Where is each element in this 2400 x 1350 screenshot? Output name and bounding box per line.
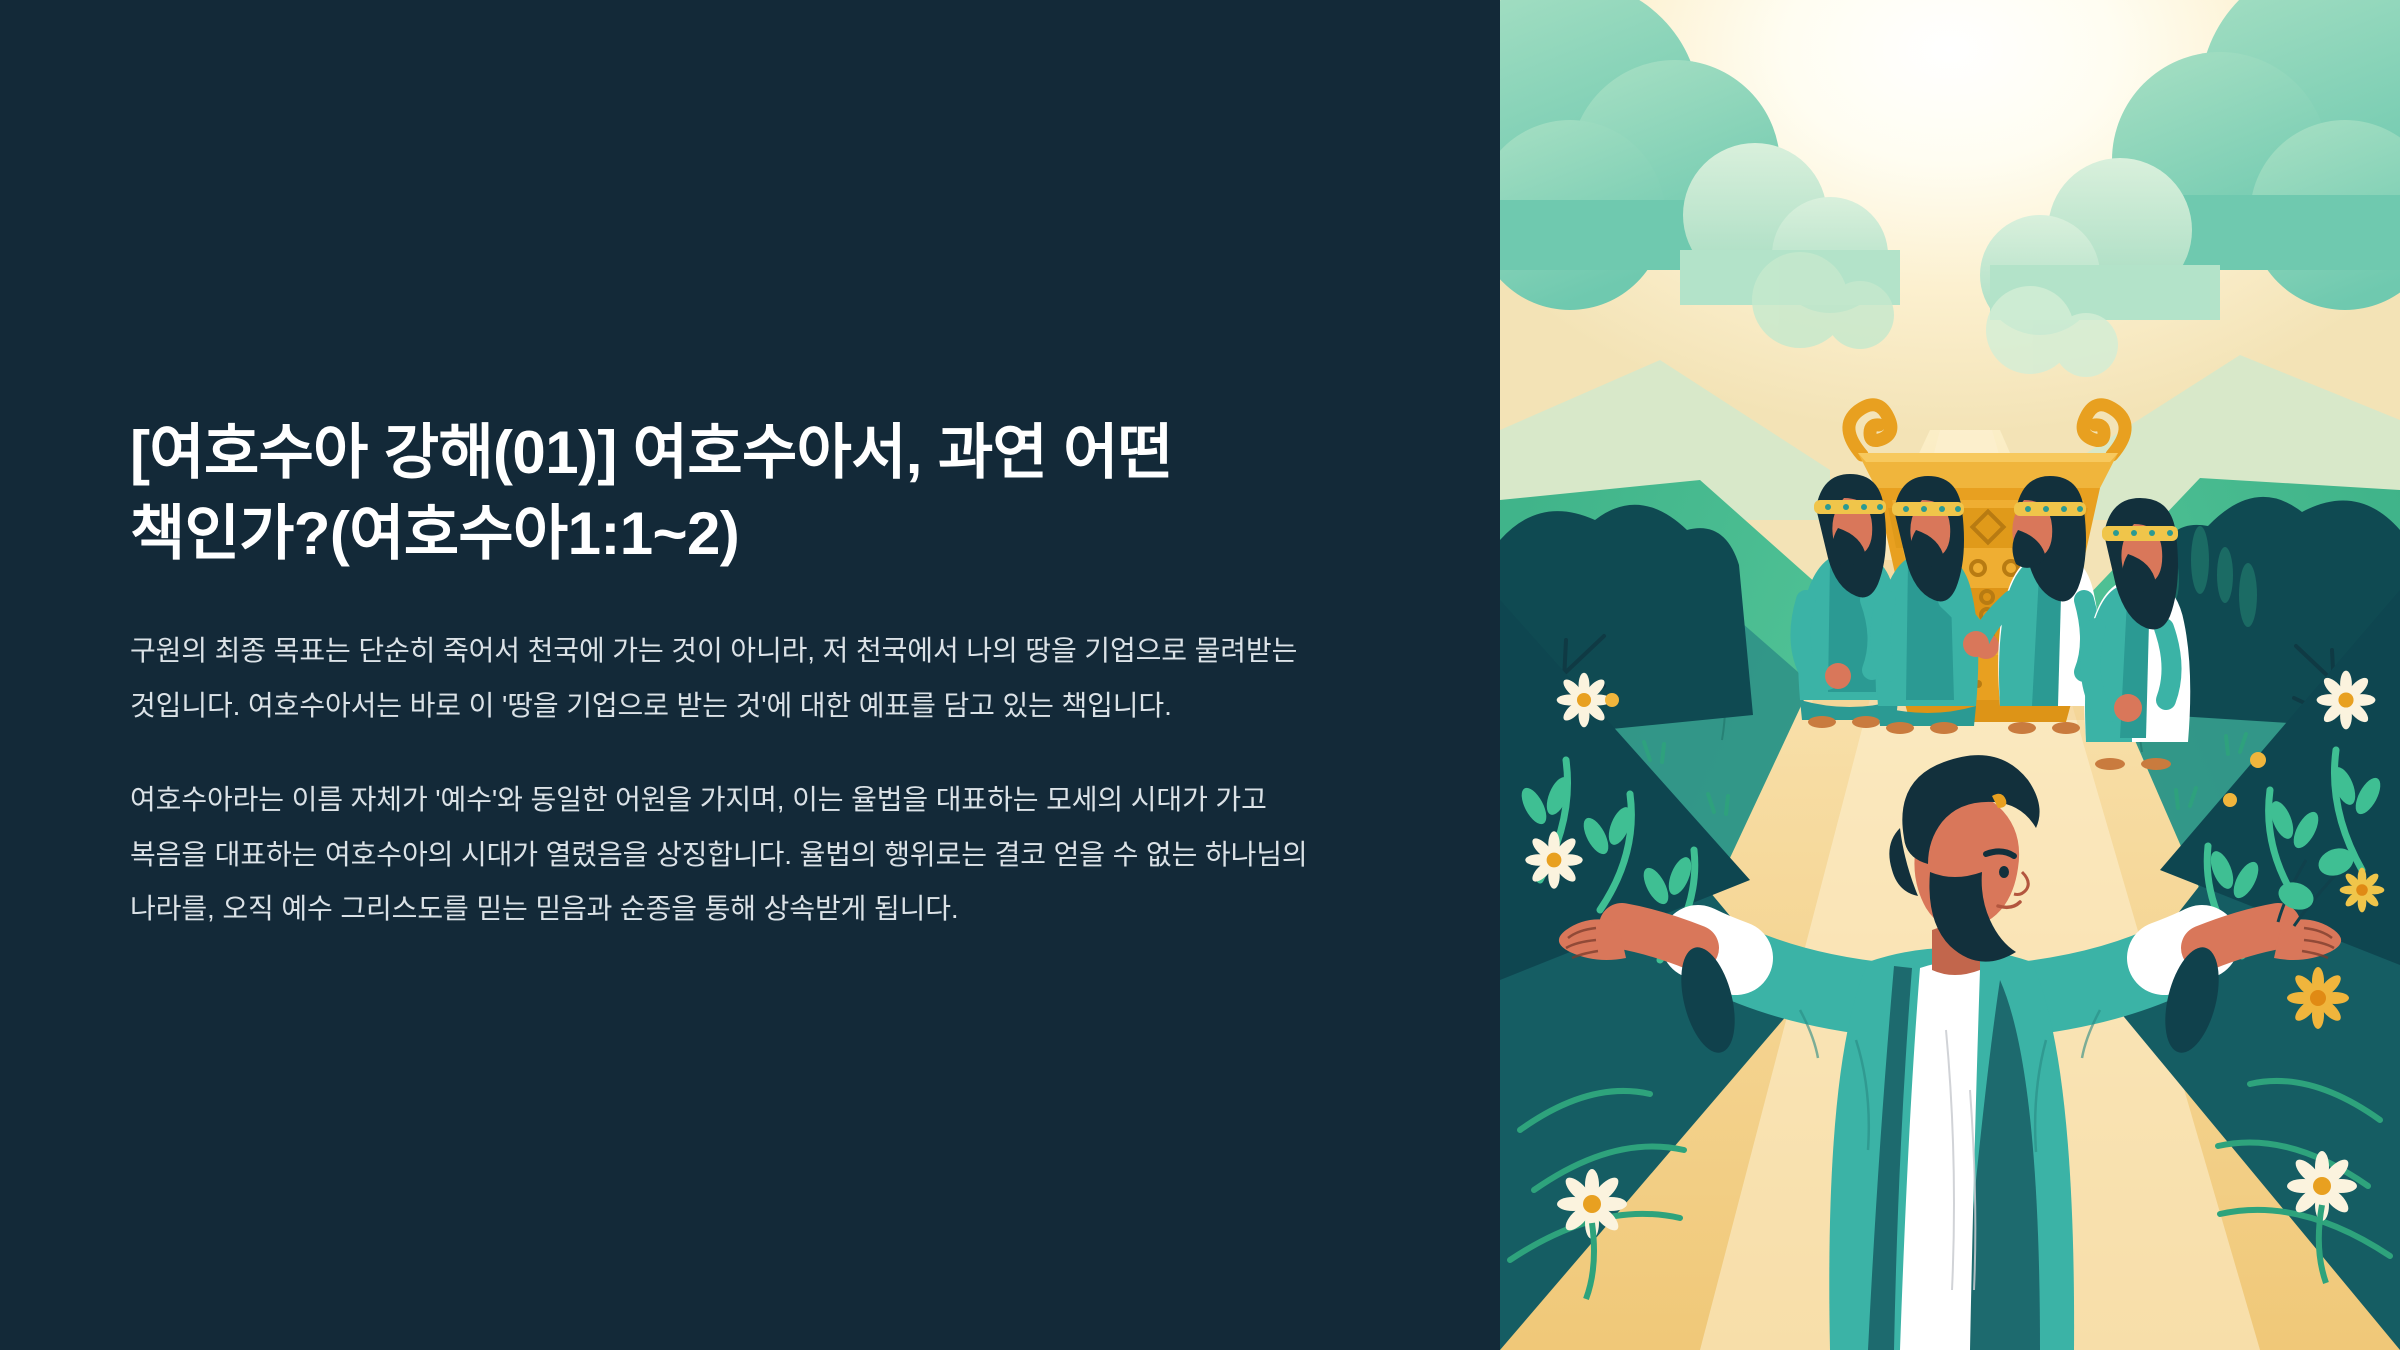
orange-flower-small [2340,868,2385,913]
slide-root: [여호수아 강해(01)] 여호수아서, 과연 어떤 책인가?(여호수아1:1~… [0,0,2400,1350]
article-text-panel: [여호수아 강해(01)] 여호수아서, 과연 어떤 책인가?(여호수아1:1~… [0,0,1500,1350]
orange-flower [2287,967,2349,1029]
biblical-scene-illustration [1500,0,2400,1350]
article-paragraph-1: 구원의 최종 목표는 단순히 죽어서 천국에 가는 것이 아니라, 저 천국에서… [130,624,1350,733]
page-title: [여호수아 강해(01)] 여호수아서, 과연 어떤 책인가?(여호수아1:1~… [130,413,1340,574]
article-paragraph-2: 여호수아라는 이름 자체가 '예수'와 동일한 어원을 가지며, 이는 율법을 … [130,773,1350,937]
illustration-panel [1500,0,2400,1350]
